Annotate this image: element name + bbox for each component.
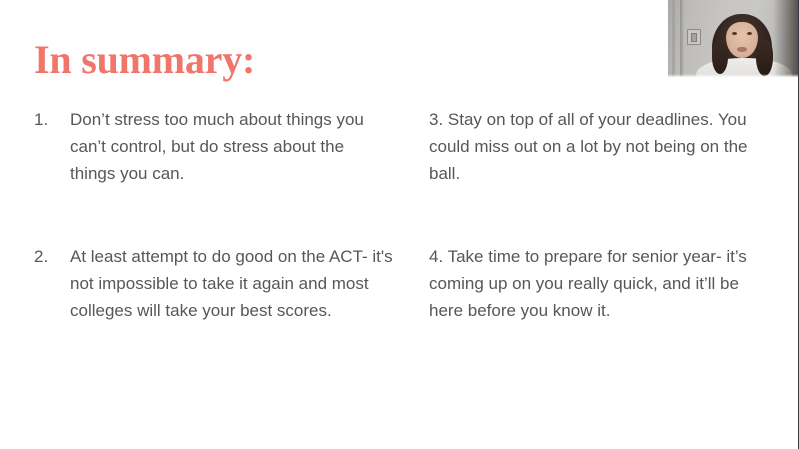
list-item: 3. Stay on top of all of your deadlines.… xyxy=(429,106,764,187)
list-item: 1. Don’t stress too much about things yo… xyxy=(34,106,394,187)
page-title: In summary: xyxy=(34,38,255,82)
webcam-wall-seam-outer xyxy=(672,0,675,77)
presentation-slide: In summary: 1. Don’t stress too much abo… xyxy=(0,0,799,449)
summary-column-right: 3. Stay on top of all of your deadlines.… xyxy=(429,106,764,324)
list-item: 2. At least attempt to do good on the AC… xyxy=(34,243,394,324)
webcam-shadow-region xyxy=(773,0,799,77)
list-item-text: Don’t stress too much about things you c… xyxy=(70,106,394,187)
webcam-wall-seam xyxy=(680,0,684,77)
presenter-eye-left xyxy=(732,32,737,35)
list-item-marker: 2. xyxy=(34,243,70,270)
light-switch-icon xyxy=(687,29,701,45)
presenter-mouth xyxy=(737,47,747,52)
webcam-bottom-edge xyxy=(668,74,799,77)
presenter-webcam-feed[interactable] xyxy=(668,0,799,77)
list-item-text: At least attempt to do good on the ACT- … xyxy=(70,243,394,324)
presenter-hair-strand-left xyxy=(712,40,728,74)
list-item-marker: 1. xyxy=(34,106,70,133)
list-item: 4. Take time to prepare for senior year-… xyxy=(429,243,764,324)
presenter-hair-strand-right xyxy=(756,40,773,76)
presenter-eye-right xyxy=(747,32,752,35)
summary-column-left: 1. Don’t stress too much about things yo… xyxy=(34,106,394,324)
